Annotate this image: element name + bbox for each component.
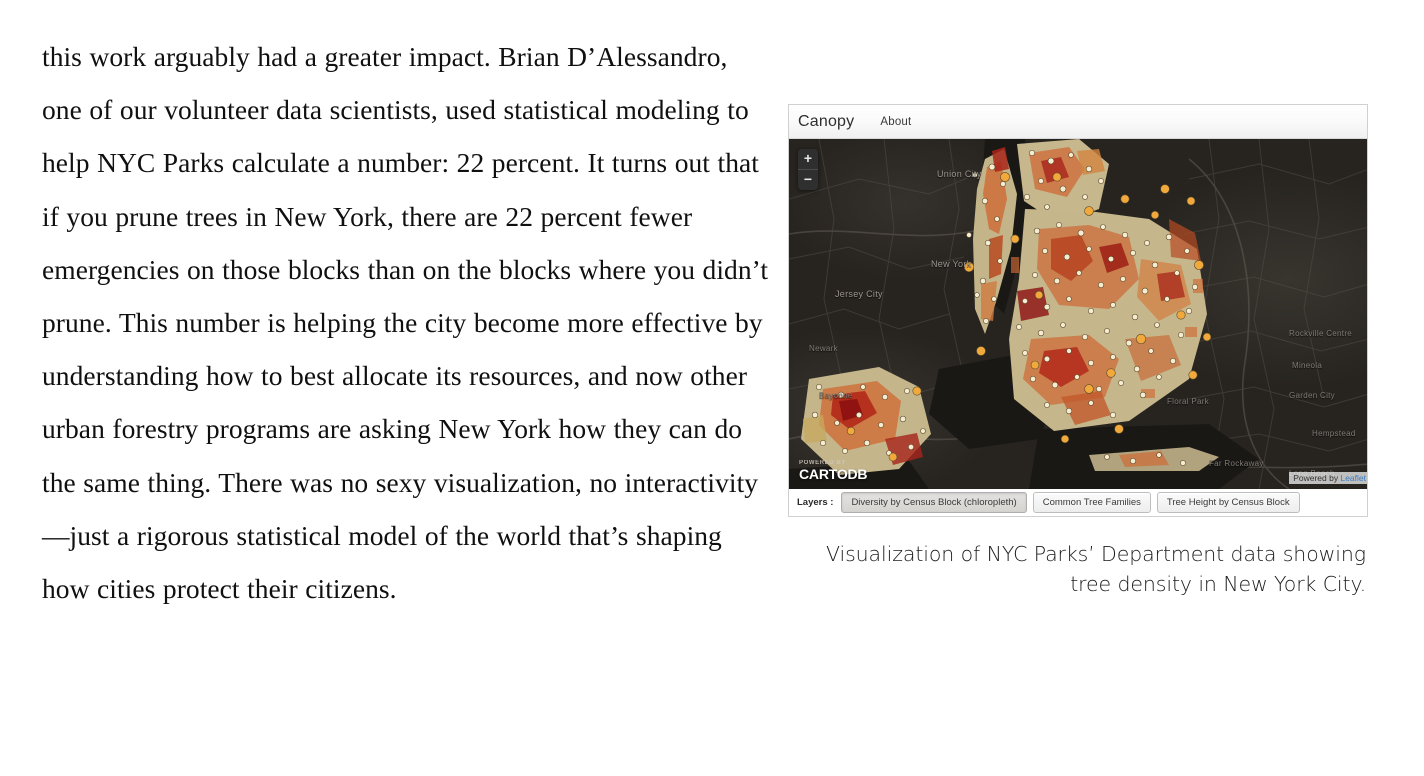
layers-label: Layers :: [797, 497, 833, 508]
article-column: this work arguably had a greater impact.…: [42, 30, 772, 615]
layer-button-0[interactable]: Diversity by Census Block (chloropleth): [841, 492, 1026, 513]
article-paragraph: this work arguably had a greater impact.…: [42, 30, 772, 615]
zoom-out-button[interactable]: −: [798, 170, 818, 190]
zoom-control[interactable]: + −: [798, 149, 818, 190]
figure-caption: Visualization of NYC Parks’ Department d…: [788, 539, 1366, 599]
layer-button-2[interactable]: Tree Height by Census Block: [1157, 492, 1300, 513]
canopy-header: Canopy About: [789, 105, 1367, 139]
cartodb-wordmark: CARTODB: [799, 467, 867, 481]
leaflet-attribution-prefix: Powered by: [1293, 473, 1340, 483]
layers-bar: Layers : Diversity by Census Block (chlo…: [788, 489, 1368, 517]
layer-button-1[interactable]: Common Tree Families: [1033, 492, 1151, 513]
leaflet-link[interactable]: Leaflet: [1340, 473, 1366, 483]
leaflet-attribution: Powered by Leaflet: [1289, 472, 1368, 484]
cartodb-powered-by-label: POWERED BY: [799, 460, 867, 466]
tree-density-dots: [789, 139, 1368, 489]
figure-column: Canopy About: [788, 104, 1370, 599]
canopy-map-widget: Canopy About: [788, 104, 1368, 489]
nav-item-about[interactable]: About: [880, 116, 911, 128]
layer-buttons: Diversity by Census Block (chloropleth)C…: [841, 492, 1305, 513]
brand-title: Canopy: [798, 113, 854, 131]
zoom-in-button[interactable]: +: [798, 149, 818, 170]
cartodb-logo[interactable]: POWERED BY CARTODB: [799, 460, 867, 481]
map-viewport[interactable]: Union CityJersey CityNew YorkNewarkBayon…: [789, 139, 1368, 489]
